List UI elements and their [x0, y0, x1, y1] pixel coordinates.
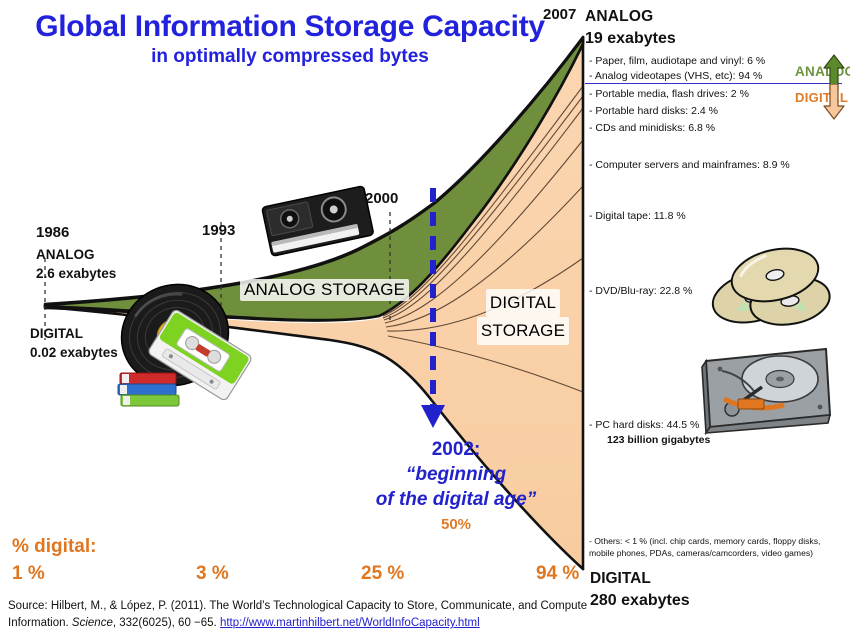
percent-digital-1993: 3 %: [196, 563, 229, 585]
annotation-2002: 2002: “beginning of the digital age” 50%: [366, 437, 546, 537]
breakdown-others-line2: mobile phones, PDAs, cameras/camcorders,…: [589, 548, 813, 559]
breakdown-digital-item-2: - CDs and minidisks: 6.8 %: [589, 121, 715, 135]
annotation-2002-line1: 2002:: [366, 437, 546, 462]
analog-storage-label: ANALOG STORAGE: [240, 279, 409, 301]
books-stack-icon: [118, 373, 179, 406]
infographic-root: Global Information Storage Capacity in o…: [0, 0, 850, 637]
label-1986-digital-value: 0.02 exabytes: [30, 344, 118, 362]
breakdown-digital-item-1: - Portable hard disks: 2.4 %: [589, 104, 718, 118]
source-citation: Source: Hilbert, M., & López, P. (2011).…: [8, 598, 628, 632]
breakdown-pc-hard-disks-sub: 123 billion gigabytes: [607, 433, 710, 447]
label-2007-analog-word: ANALOG: [585, 8, 653, 26]
arrow-down-icon: [823, 84, 845, 120]
breakdown-digital-item-6: - PC hard disks: 44.5 %: [589, 418, 699, 432]
digital-storage-label-line2: STORAGE: [477, 317, 569, 345]
percent-digital-2000: 25 %: [361, 563, 404, 585]
label-year-1986: 1986: [36, 224, 69, 241]
source-text-2: , 332(6025), 60 −65.: [113, 617, 220, 629]
breakdown-analog-item-0: - Paper, film, audiotape and vinyl: 6 %: [589, 54, 765, 68]
breakdown-digital-item-0: - Portable media, flash drives: 2 %: [589, 87, 749, 101]
label-year-2000: 2000: [365, 190, 398, 207]
annotation-2002-line3: of the digital age”: [366, 487, 546, 512]
hard-disk-icon: [702, 349, 830, 433]
digital-storage-label-line1: DIGITAL: [486, 289, 560, 317]
label-1986-analog-word: ANALOG: [36, 246, 95, 264]
vhs-tape-icon: [262, 186, 374, 257]
cd-dvd-discs-icon: [707, 241, 833, 331]
breakdown-digital-item-3: - Computer servers and mainframes: 8.9 %: [589, 158, 790, 172]
annotation-2002-percent: 50%: [366, 512, 546, 537]
label-1986-digital-word: DIGITAL: [30, 325, 83, 343]
percent-digital-2007: 94 %: [536, 563, 579, 585]
label-year-2007: 2007: [543, 6, 576, 23]
title-block: Global Information Storage Capacity in o…: [30, 10, 550, 69]
breakdown-analog-item-1: - Analog videotapes (VHS, etc): 94 %: [589, 69, 762, 83]
percent-digital-1986: 1 %: [12, 563, 45, 585]
label-year-1993: 1993: [202, 222, 235, 239]
annotation-2002-line2: “beginning: [366, 462, 546, 487]
page-title: Global Information Storage Capacity: [30, 10, 550, 44]
breakdown-digital-item-4: - Digital tape: 11.8 %: [589, 209, 686, 223]
label-2007-analog-value: 19 exabytes: [585, 30, 676, 48]
digital-storage-label: DIGITAL STORAGE: [468, 289, 578, 345]
label-1986-analog-value: 2.6 exabytes: [36, 265, 116, 283]
source-url-link[interactable]: http://www.martinhilbert.net/WorldInfoCa…: [220, 617, 480, 629]
label-2007-digital-word: DIGITAL: [590, 570, 651, 588]
breakdown-digital-item-5: - DVD/Blu-ray: 22.8 %: [589, 284, 692, 298]
source-journal: Science: [72, 617, 113, 629]
page-subtitle: in optimally compressed bytes: [30, 45, 550, 69]
breakdown-others-line1: - Others: < 1 % (incl. chip cards, memor…: [589, 536, 820, 547]
percent-digital-caption: % digital:: [12, 536, 96, 558]
analog-digital-divider: [585, 83, 842, 84]
